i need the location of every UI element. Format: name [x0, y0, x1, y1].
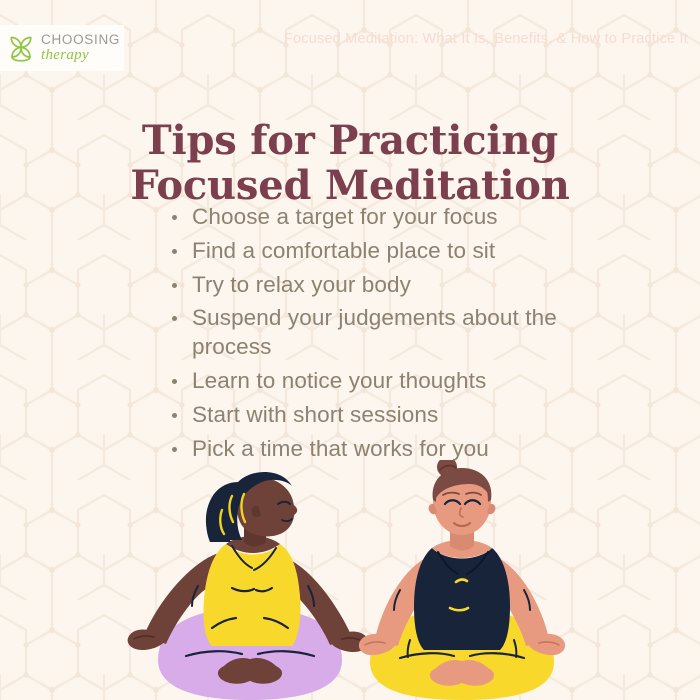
- breadcrumb: Focused Meditation: What It Is, Benefits…: [284, 31, 688, 47]
- bullet-dot-icon: [172, 283, 177, 288]
- bullet-dot-icon: [172, 413, 177, 418]
- list-item-label: Try to relax your body: [192, 272, 411, 297]
- brand-name-primary: CHOOSING: [41, 33, 120, 47]
- list-item: Learn to notice your thoughts: [168, 367, 588, 396]
- list-item-label: Learn to notice your thoughts: [192, 368, 486, 393]
- bullet-dot-icon: [172, 447, 177, 452]
- lotus-leaf-icon: [6, 33, 36, 63]
- bullet-dot-icon: [172, 249, 177, 254]
- list-item-label: Choose a target for your focus: [192, 204, 498, 229]
- right-meditating-figure: [359, 460, 565, 700]
- header-bar: CHOOSING therapy Focused Meditation: Wha…: [0, 0, 700, 92]
- list-item: Try to relax your body: [168, 271, 588, 300]
- bullet-dot-icon: [172, 379, 177, 384]
- list-item: Suspend your judgements about the proces…: [168, 304, 588, 362]
- brand-name-secondary: therapy: [41, 48, 120, 63]
- left-meditating-figure: [128, 472, 369, 700]
- page-title-line-1: Tips for Practicing: [0, 119, 700, 164]
- list-item-label: Find a comfortable place to sit: [192, 238, 495, 263]
- list-item: Start with short sessions: [168, 401, 588, 430]
- list-item: Choose a target for your focus: [168, 203, 588, 232]
- two-people-meditating-illustration: [0, 460, 700, 700]
- list-item: Pick a time that works for you: [168, 435, 588, 464]
- tips-list: Choose a target for your focus Find a co…: [168, 203, 588, 468]
- list-item-label: Suspend your judgements about the proces…: [192, 305, 557, 359]
- infographic-canvas: CHOOSING therapy Focused Meditation: Wha…: [0, 0, 700, 700]
- brand-logo[interactable]: CHOOSING therapy: [0, 25, 124, 71]
- list-item-label: Pick a time that works for you: [192, 436, 489, 461]
- list-item: Find a comfortable place to sit: [168, 237, 588, 266]
- bullet-dot-icon: [172, 316, 177, 321]
- brand-wordmark: CHOOSING therapy: [41, 33, 120, 63]
- list-item-label: Start with short sessions: [192, 402, 438, 427]
- page-title: Tips for Practicing Focused Meditation: [0, 119, 700, 209]
- page-title-line-2: Focused Meditation: [0, 164, 700, 209]
- bullet-dot-icon: [172, 215, 177, 220]
